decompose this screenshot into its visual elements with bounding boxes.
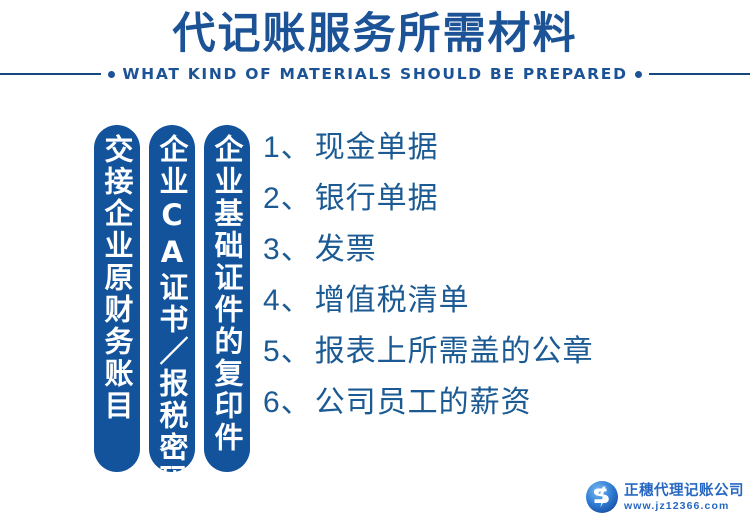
subtitle-row: WHAT KIND OF MATERIALS SHOULD BE PREPARE…: [0, 62, 750, 86]
pill-label: 企业CA证书／报税密码: [155, 134, 189, 496]
list-item-separator: 、: [281, 385, 311, 420]
list-item: 5、报表上所需盖的公章: [263, 326, 743, 377]
list-item-separator: 、: [281, 232, 311, 267]
page-subtitle: WHAT KIND OF MATERIALS SHOULD BE PREPARE…: [122, 65, 627, 83]
list-item-label: 银行单据: [315, 181, 439, 216]
list-item-label: 增值税清单: [315, 283, 470, 318]
list-item-separator: 、: [281, 334, 311, 369]
vertical-pill-group: 企业基础证件的复印件 企业CA证书／报税密码 交接企业原财务账目: [94, 125, 250, 472]
list-item-separator: 、: [281, 181, 311, 216]
list-item-label: 公司员工的薪资: [315, 385, 532, 420]
pill-item: 交接企业原财务账目: [94, 125, 140, 472]
list-item-number: 6: [263, 386, 281, 419]
list-item-number: 3: [263, 233, 281, 266]
list-item: 2、银行单据: [263, 173, 743, 224]
list-item-number: 2: [263, 182, 281, 215]
watermark-text: 正穗代理记账公司 www.jz12366.com: [624, 480, 744, 514]
bullet-dot-icon-left: [108, 71, 115, 78]
poster-content: 企业基础证件的复印件 企业CA证书／报税密码 交接企业原财务账目 1、现金单据 …: [0, 100, 750, 480]
pill-label: 企业基础证件的复印件: [210, 134, 244, 454]
poster-header: 代记账服务所需材料 WHAT KIND OF MATERIALS SHOULD …: [0, 0, 750, 100]
list-item-label: 报表上所需盖的公章: [315, 334, 594, 369]
list-item-label: 发票: [315, 232, 377, 267]
company-logo-icon: [585, 480, 619, 514]
pill-item: 企业CA证书／报税密码: [149, 125, 195, 472]
list-item: 3、发票: [263, 224, 743, 275]
list-item-separator: 、: [281, 283, 311, 318]
watermark: 正穗代理记账公司 www.jz12366.com: [585, 476, 744, 518]
list-item: 1、现金单据: [263, 122, 743, 173]
materials-list: 1、现金单据 2、银行单据 3、发票 4、增值税清单 5、报表上所需盖的公章 6…: [263, 122, 743, 428]
watermark-company-name: 正穗代理记账公司: [624, 482, 744, 500]
bullet-dot-icon-right: [635, 71, 642, 78]
pill-label: 交接企业原财务账目: [100, 134, 134, 422]
divider-line-right: [649, 73, 750, 75]
list-item-separator: 、: [281, 130, 311, 165]
list-item-number: 4: [263, 284, 281, 317]
watermark-url: www.jz12366.com: [624, 500, 744, 513]
list-item-number: 1: [263, 131, 281, 164]
list-item: 6、公司员工的薪资: [263, 377, 743, 428]
list-item-label: 现金单据: [315, 130, 439, 165]
list-item: 4、增值税清单: [263, 275, 743, 326]
pill-item: 企业基础证件的复印件: [204, 125, 250, 472]
page-title: 代记账服务所需材料: [0, 8, 750, 60]
divider-line-left: [0, 73, 101, 75]
poster-canvas: 代记账服务所需材料 WHAT KIND OF MATERIALS SHOULD …: [0, 0, 750, 524]
list-item-number: 5: [263, 335, 281, 368]
